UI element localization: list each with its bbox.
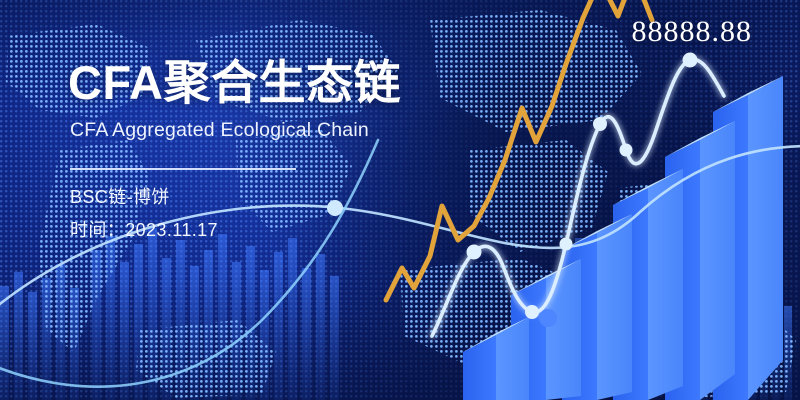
circle-marker-icon [683, 53, 698, 68]
big-number-value: 88888.88 [632, 15, 753, 49]
circle-marker-icon [539, 309, 557, 327]
headline-block: CFA聚合生态链 CFA Aggregated Ecological Chain… [68, 58, 488, 242]
bar-3d-icon [463, 317, 529, 400]
subtitle-english: CFA Aggregated Ecological Chain [70, 119, 488, 142]
cfa-promo-banner: CFA聚合生态链 CFA Aggregated Ecological Chain… [0, 0, 800, 400]
bar-group [463, 76, 783, 400]
circle-marker-icon [620, 144, 633, 157]
page-title: CFA聚合生态链 [68, 58, 488, 109]
meta-chain-label: BSC链-博饼 [70, 183, 488, 209]
divider [70, 168, 296, 170]
circle-marker-icon [560, 238, 573, 251]
circle-marker-icon [525, 305, 539, 319]
circle-marker-icon [593, 117, 607, 131]
circle-marker-icon [467, 245, 482, 260]
meta-date-label: 时间：2023.11.17 [70, 216, 488, 242]
